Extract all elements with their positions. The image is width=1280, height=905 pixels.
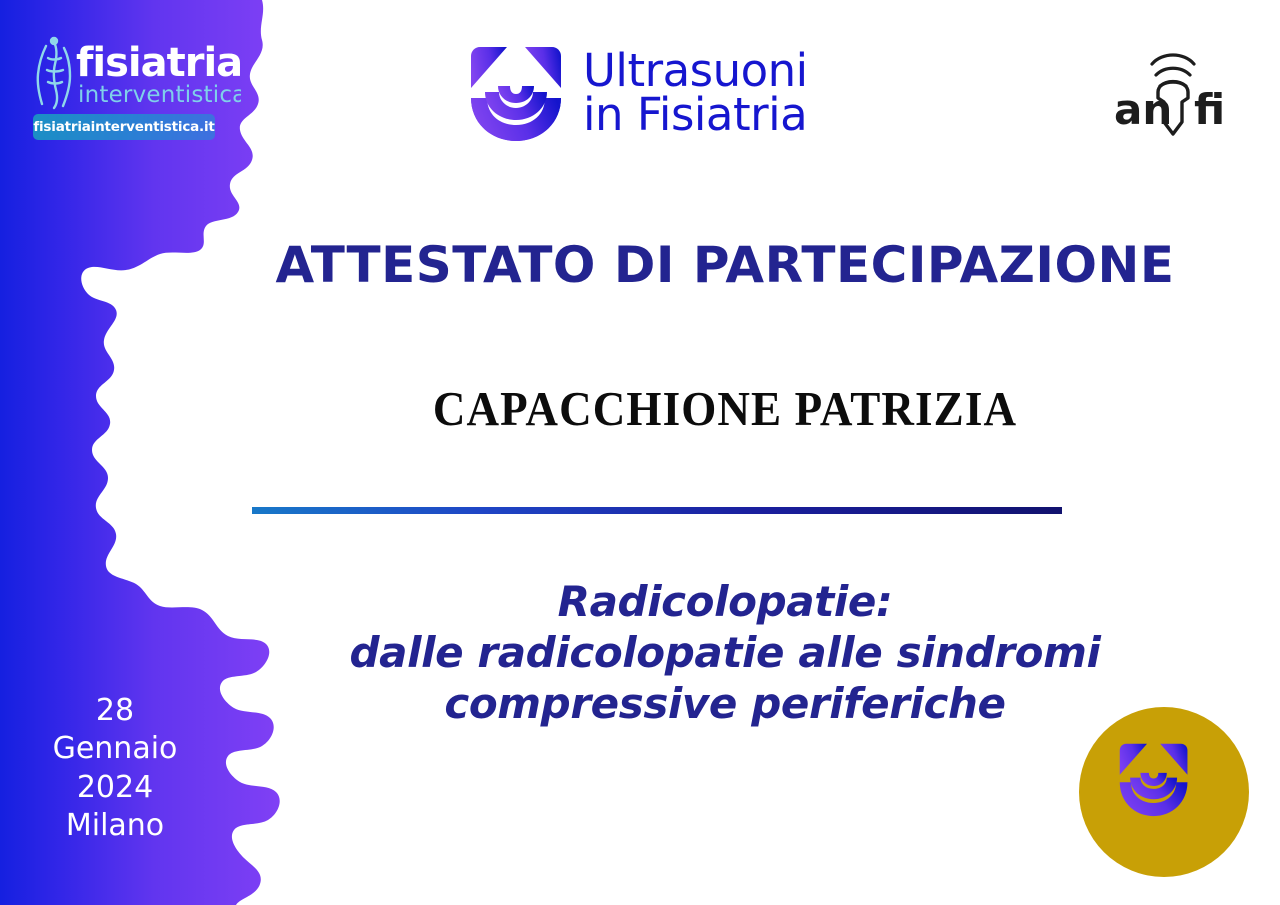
event-day: 28 <box>30 692 200 730</box>
certificate-title: ATTESTATO DI PARTECIPAZIONE <box>190 236 1260 294</box>
anfi-text-left: an <box>1114 85 1172 134</box>
ultrasuoni-line2: in Fisiatria <box>583 93 808 137</box>
event-month: Gennaio <box>30 730 200 768</box>
event-details: 28 Gennaio 2024 Milano <box>30 692 200 846</box>
course-title-line-2: dalle radicolopatie alle sindromi <box>190 627 1260 678</box>
event-city: Milano <box>30 807 200 845</box>
ultrasound-waves-shield-icon <box>465 42 567 144</box>
ultrasuoni-line1: Ultrasuoni <box>583 49 808 93</box>
fisiatria-logo: fisiatria interventistica fisiatriainter… <box>24 34 239 144</box>
svg-text:fisiatria: fisiatria <box>76 40 241 86</box>
gold-seal-ultrasound-icon <box>1078 706 1250 878</box>
fisiatria-url-text: fisiatriainterventistica.it <box>33 119 214 135</box>
ultrasuoni-in-fisiatria-logo: Ultrasuoni in Fisiatria <box>465 38 808 148</box>
participant-name: CAPACCHIONE PATRIZIA <box>233 380 1217 437</box>
anfi-logo: an fi <box>1108 36 1238 140</box>
svg-text:interventistica: interventistica <box>78 82 241 108</box>
divider-rule <box>252 507 1062 514</box>
fisiatria-wordmark: fisiatria interventistica <box>76 34 241 112</box>
fisiatria-url-badge[interactable]: fisiatriainterventistica.it <box>33 114 215 140</box>
event-year: 2024 <box>30 769 200 807</box>
anfi-text-right: fi <box>1194 85 1225 134</box>
course-title-line-1: Radicolopatie: <box>190 576 1260 627</box>
ultrasuoni-wordmark: Ultrasuoni in Fisiatria <box>583 49 808 137</box>
certificate-page: fisiatria interventistica fisiatriainter… <box>0 0 1280 905</box>
